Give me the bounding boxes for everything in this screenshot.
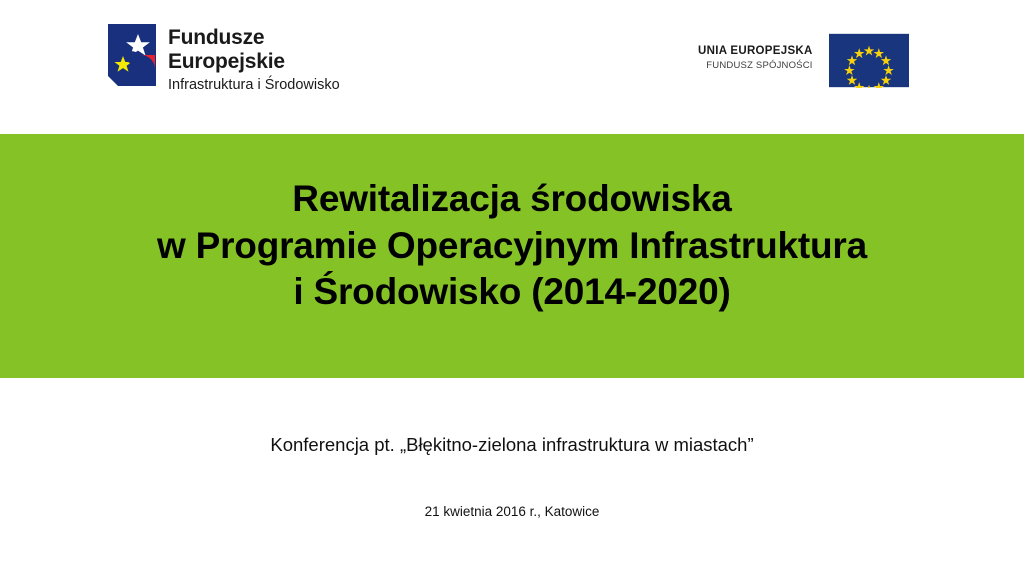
ue-wordmark-line2: FUNDUSZ SPÓJNOŚCI: [698, 60, 813, 72]
fundusze-europejskie-mark: [108, 24, 156, 86]
eu-flag-icon: [829, 33, 909, 88]
unia-europejska-logo: UNIA EUROPEJSKA FUNDUSZ SPÓJNOŚCI: [698, 33, 909, 88]
title-band: Rewitalizacja środowiska w Programie Ope…: [0, 134, 1024, 378]
fe-wordmark-line2: Europejskie: [168, 50, 340, 74]
unia-europejska-wordmark: UNIA EUROPEJSKA FUNDUSZ SPÓJNOŚCI: [698, 33, 813, 73]
fe-wordmark-subtitle: Infrastruktura i Środowisko: [168, 77, 340, 94]
fundusze-europejskie-wordmark: Fundusze Europejskie Infrastruktura i Śr…: [168, 24, 340, 94]
page-title: Rewitalizacja środowiska w Programie Ope…: [0, 134, 1024, 316]
ue-wordmark-line1: UNIA EUROPEJSKA: [698, 44, 813, 58]
event-date: 21 kwietnia 2016 r., Katowice: [0, 503, 1024, 521]
logo-bar: Fundusze Europejskie Infrastruktura i Śr…: [0, 0, 1024, 134]
fundusze-europejskie-logo: Fundusze Europejskie Infrastruktura i Śr…: [108, 24, 340, 94]
fe-wordmark-line1: Fundusze: [168, 26, 340, 50]
conference-subtitle: Konferencja pt. „Błękitno-zielona infras…: [0, 433, 1024, 457]
presentation-slide: Fundusze Europejskie Infrastruktura i Śr…: [0, 0, 1024, 576]
